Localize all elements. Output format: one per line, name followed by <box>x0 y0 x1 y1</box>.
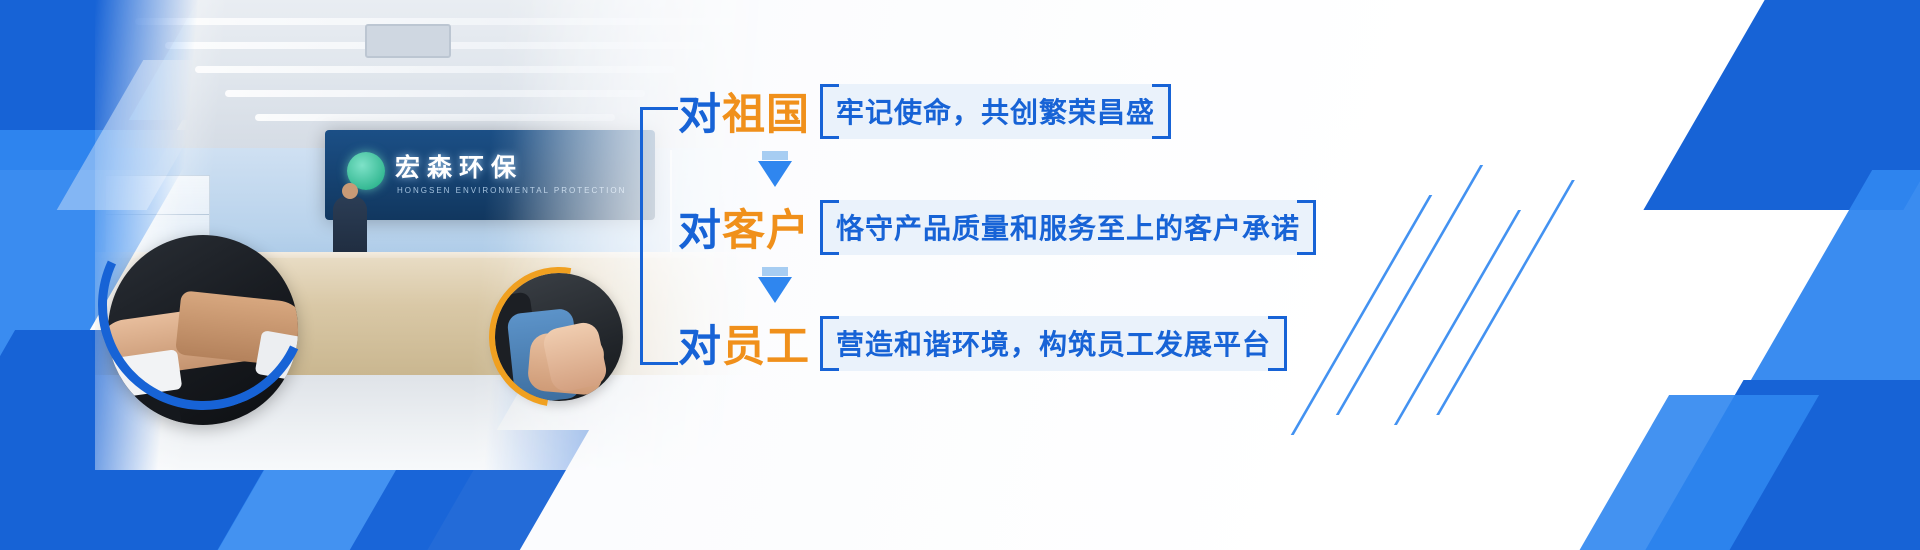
value-subject: 员工 <box>722 322 810 372</box>
value-subject: 客户 <box>722 206 810 256</box>
value-subject: 祖国 <box>722 90 810 140</box>
value-prefix: 对 <box>678 206 722 256</box>
down-arrow-icon-2 <box>758 277 792 303</box>
value-label-customer: 对客户 <box>678 196 810 258</box>
value-label-country: 对祖国 <box>678 80 810 142</box>
value-prefix: 对 <box>678 322 722 372</box>
arrow-cap-2 <box>762 267 788 276</box>
value-row-employee: 对员工 营造和谐环境，构筑员工发展平台 <box>678 315 1287 371</box>
value-row-country: 对祖国 牢记使命，共创繁荣昌盛 <box>678 83 1171 139</box>
down-arrow-icon-1 <box>758 161 792 187</box>
value-row-customer: 对客户 恪守产品质量和服务至上的客户承诺 <box>678 199 1316 255</box>
values-content: 对祖国 牢记使命，共创繁荣昌盛 对客户 恪守产品质量和服务至上的客户承诺 对员工… <box>640 75 1460 395</box>
company-values-banner: 宏森环保 HONGSEN ENVIRONMENTAL PROTECTION <box>0 0 1920 550</box>
arrow-cap-1 <box>762 151 788 160</box>
value-label-employee: 对员工 <box>678 312 810 374</box>
value-statement-country: 牢记使命，共创繁荣昌盛 <box>820 84 1171 139</box>
value-prefix: 对 <box>678 90 722 140</box>
value-statement-employee: 营造和谐环境，构筑员工发展平台 <box>820 316 1287 371</box>
value-statement-customer: 恪守产品质量和服务至上的客户承诺 <box>820 200 1316 255</box>
bracket-connector <box>640 107 678 365</box>
